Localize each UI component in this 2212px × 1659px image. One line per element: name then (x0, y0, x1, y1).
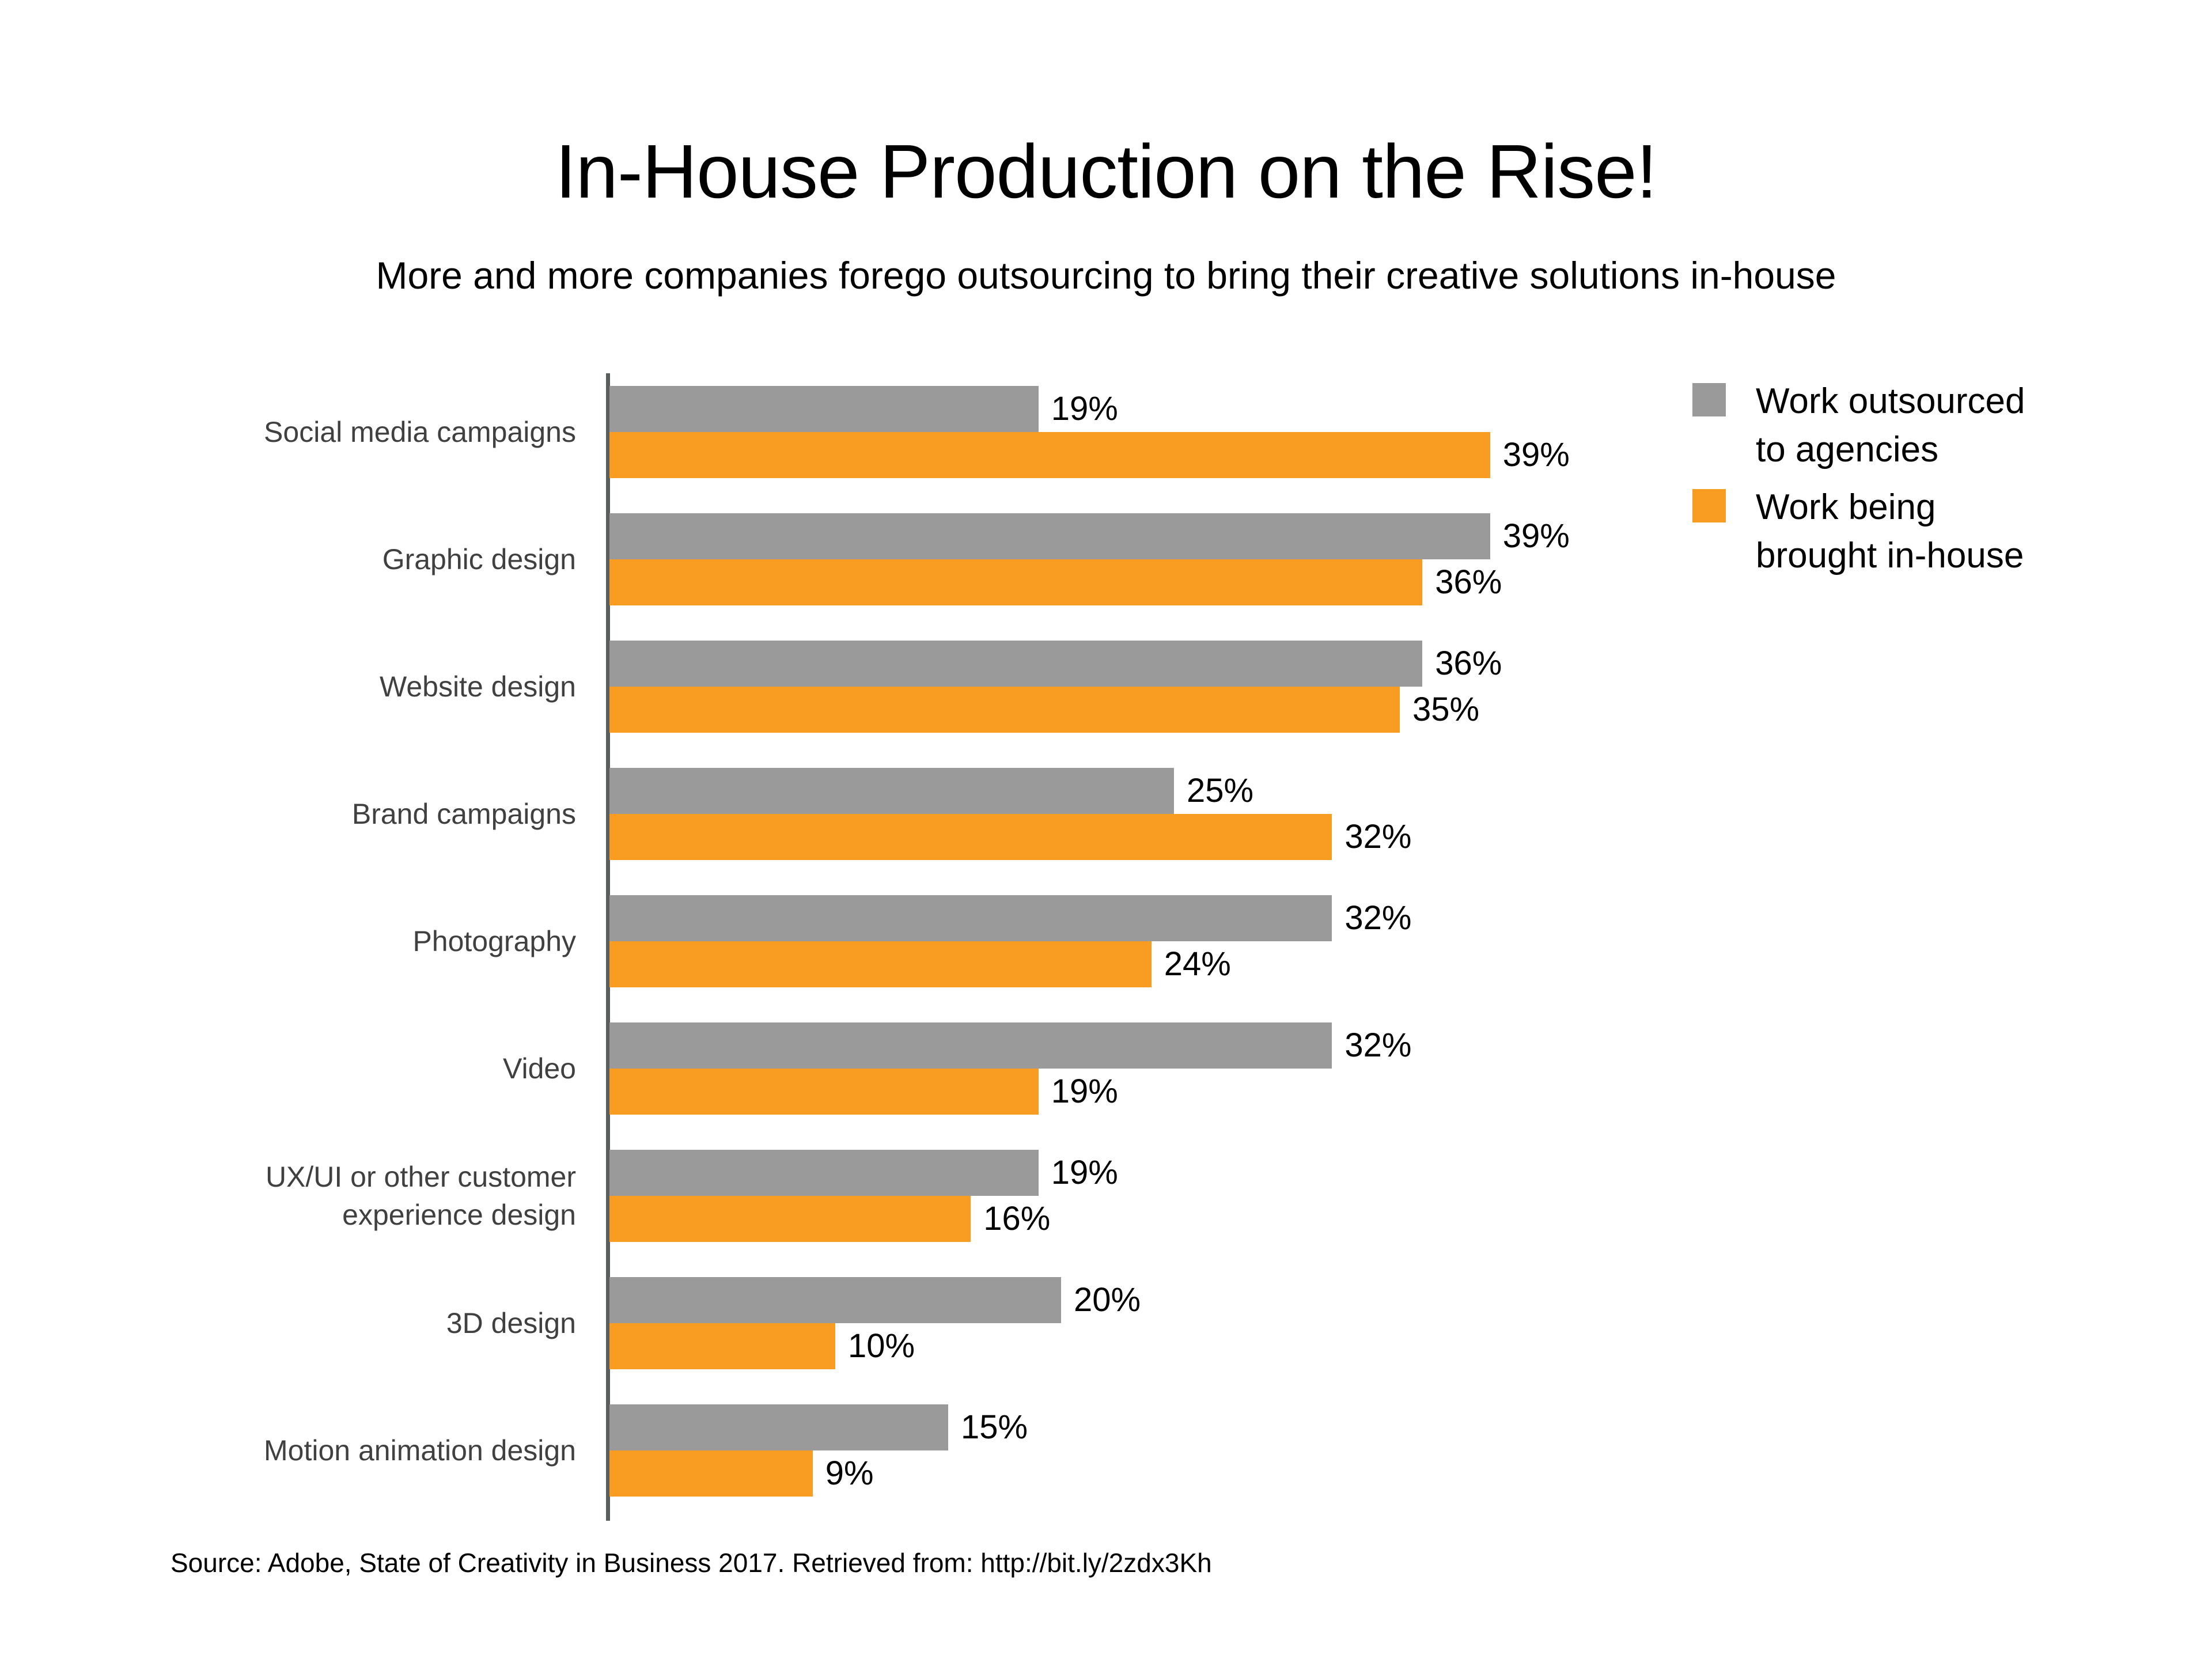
plot-area: Social media campaigns19%39%Graphic desi… (0, 0, 2212, 1659)
legend-swatch-outsourced (1692, 383, 1726, 416)
bar-value-outsourced: 20% (1074, 1277, 1141, 1323)
bar-inhouse[interactable] (609, 1196, 971, 1242)
bar-value-outsourced: 19% (1051, 386, 1118, 432)
bar-value-outsourced: 32% (1344, 895, 1411, 941)
bar-outsourced[interactable] (609, 1404, 948, 1450)
bar-group: Website design36%35% (0, 641, 2212, 733)
bar-outsourced[interactable] (609, 513, 1490, 559)
source-note: Source: Adobe, State of Creativity in Bu… (171, 1547, 1212, 1578)
bar-outsourced[interactable] (609, 768, 1174, 814)
bar-group: 3D design20%10% (0, 1277, 2212, 1369)
bar-group: Motion animation design15%9% (0, 1404, 2212, 1497)
bar-inhouse[interactable] (609, 432, 1490, 478)
chart-legend: Work outsourced to agenciesWork being br… (1692, 377, 2142, 589)
bar-inhouse[interactable] (609, 1323, 835, 1369)
category-label: UX/UI or other customer experience desig… (0, 1158, 576, 1234)
bar-group: Brand campaigns25%32% (0, 768, 2212, 860)
legend-entry[interactable]: Work being brought in-house (1692, 483, 2142, 580)
bar-inhouse[interactable] (609, 814, 1332, 860)
bar-value-inhouse: 9% (825, 1450, 874, 1497)
bar-group: Video32%19% (0, 1022, 2212, 1115)
legend-swatch-inhouse (1692, 489, 1726, 522)
category-label: 3D design (0, 1304, 576, 1342)
bar-outsourced[interactable] (609, 1022, 1332, 1069)
bar-group: Photography32%24% (0, 895, 2212, 987)
category-label: Motion animation design (0, 1431, 576, 1469)
bar-value-inhouse: 36% (1435, 559, 1502, 605)
bar-value-inhouse: 10% (848, 1323, 915, 1369)
bar-inhouse[interactable] (609, 1450, 813, 1497)
bar-value-inhouse: 24% (1164, 941, 1231, 987)
bar-value-inhouse: 16% (983, 1196, 1050, 1242)
bar-value-outsourced: 25% (1187, 768, 1253, 814)
bar-value-outsourced: 15% (961, 1404, 1028, 1450)
bar-value-inhouse: 39% (1503, 432, 1570, 478)
bar-outsourced[interactable] (609, 641, 1422, 687)
bar-value-inhouse: 32% (1344, 814, 1411, 860)
bar-inhouse[interactable] (609, 1069, 1039, 1115)
category-label: Social media campaigns (0, 413, 576, 451)
legend-entry[interactable]: Work outsourced to agencies (1692, 377, 2142, 474)
bar-outsourced[interactable] (609, 386, 1039, 432)
bar-outsourced[interactable] (609, 1277, 1061, 1323)
bar-value-inhouse: 19% (1051, 1069, 1118, 1115)
category-label: Brand campaigns (0, 795, 576, 833)
bar-value-outsourced: 19% (1051, 1150, 1118, 1196)
bar-outsourced[interactable] (609, 895, 1332, 941)
bar-inhouse[interactable] (609, 687, 1400, 733)
category-label: Website design (0, 668, 576, 706)
bar-value-outsourced: 32% (1344, 1022, 1411, 1069)
bar-group: UX/UI or other customer experience desig… (0, 1150, 2212, 1242)
bar-value-outsourced: 36% (1435, 641, 1502, 687)
bar-inhouse[interactable] (609, 559, 1422, 605)
legend-label: Work being brought in-house (1756, 483, 2142, 580)
bar-outsourced[interactable] (609, 1150, 1039, 1196)
bar-inhouse[interactable] (609, 941, 1152, 987)
category-label: Photography (0, 922, 576, 960)
legend-label: Work outsourced to agencies (1756, 377, 2142, 474)
bar-value-outsourced: 39% (1503, 513, 1570, 559)
bar-value-inhouse: 35% (1412, 687, 1479, 733)
category-label: Video (0, 1050, 576, 1088)
category-label: Graphic design (0, 540, 576, 578)
